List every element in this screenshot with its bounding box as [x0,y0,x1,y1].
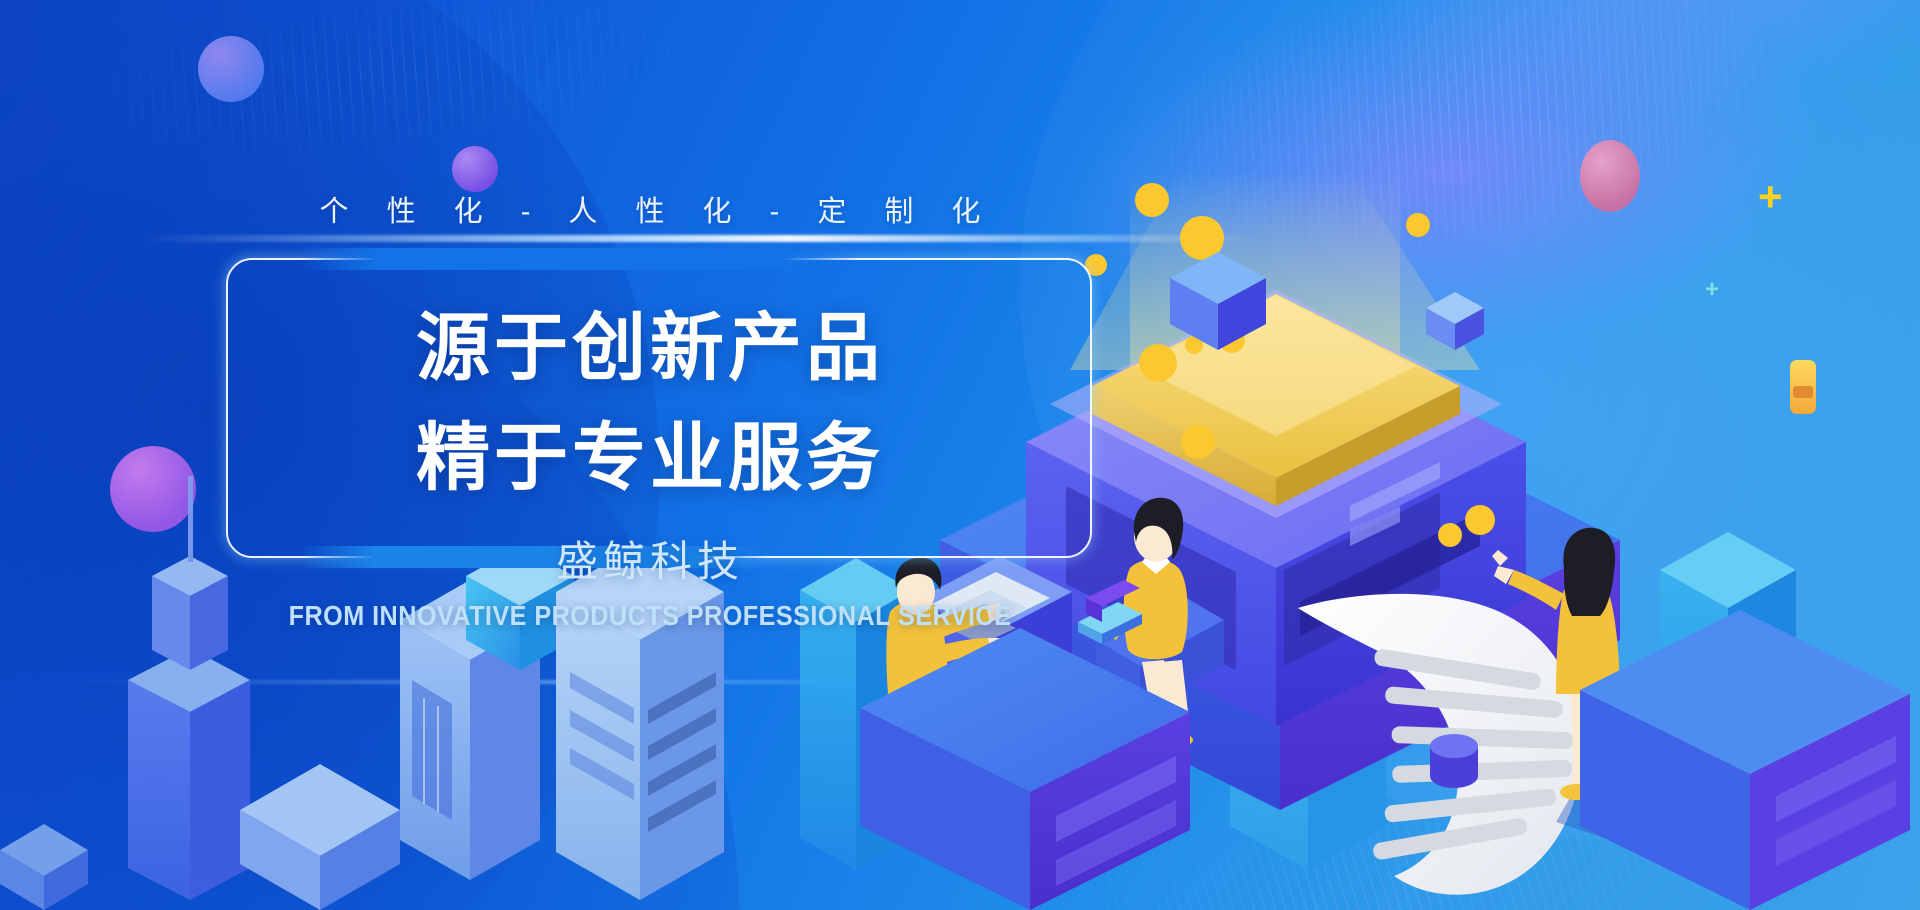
man-at-kiosk-terminal [886,558,1002,824]
printed-document-sheet [1298,594,1582,895]
company-name: 盛鲸科技 [0,528,1300,589]
english-subtitle: FROM INNOVATIVE PRODUCTS PROFESSIONAL SE… [65,600,1235,632]
right-platform [1580,600,1920,910]
capsule-accent-yellow [1790,360,1816,414]
platform-right-face [1280,540,1620,810]
capsule-accent-band [1793,386,1813,398]
cylinder-accent [1424,730,1484,800]
floating-cube-tiny [1420,286,1490,356]
plus-accent-teal: + [1705,278,1719,302]
tagline-text: 个 性 化 - 人 性 化 - 定 制 化 [0,188,1300,230]
standing-woman-reaching-paper [1492,528,1700,860]
light-streak-lower [60,680,1060,684]
light-streak-upper [140,235,1260,242]
headline-line-2: 精于专业服务 [0,398,1300,505]
headline-line-1: 源于创新产品 [0,288,1300,395]
plus-accent-right: + [1758,176,1783,218]
hero-banner: + + + [0,0,1920,910]
frame-gap-top [300,248,860,270]
decorative-sphere-blue-purple [198,36,264,102]
decorative-sphere-violet [452,146,498,192]
decorative-sphere-pink [1580,140,1640,212]
